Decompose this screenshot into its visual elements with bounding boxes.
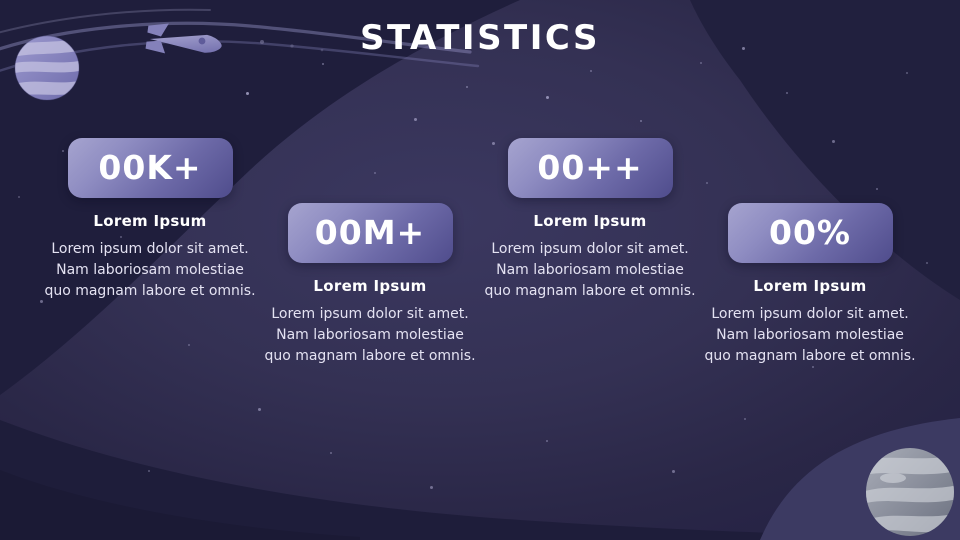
stat-heading-4: Lorem Ipsum xyxy=(696,277,924,295)
statistics-slide: STATISTICS 00K+ Lorem Ipsum Lorem ipsum … xyxy=(0,0,960,540)
stat-heading-2: Lorem Ipsum xyxy=(256,277,484,295)
stat-body-4: Lorem ipsum dolor sit amet. Nam laborios… xyxy=(696,304,924,367)
stat-value-badge-4[interactable]: 00% xyxy=(728,203,893,263)
stats-row: 00K+ Lorem Ipsum Lorem ipsum dolor sit a… xyxy=(0,0,960,540)
stat-card-1: 00K+ Lorem Ipsum Lorem ipsum dolor sit a… xyxy=(36,138,264,302)
stat-card-4: 00% Lorem Ipsum Lorem ipsum dolor sit am… xyxy=(696,203,924,367)
stat-heading-1: Lorem Ipsum xyxy=(36,212,264,230)
page-title: STATISTICS xyxy=(0,18,960,58)
stat-card-3: 00++ Lorem Ipsum Lorem ipsum dolor sit a… xyxy=(476,138,704,302)
stat-body-1: Lorem ipsum dolor sit amet. Nam laborios… xyxy=(36,239,264,302)
stat-value-badge-3[interactable]: 00++ xyxy=(508,138,673,198)
stat-value-badge-2[interactable]: 00M+ xyxy=(288,203,453,263)
stat-body-3: Lorem ipsum dolor sit amet. Nam laborios… xyxy=(476,239,704,302)
stat-card-2: 00M+ Lorem Ipsum Lorem ipsum dolor sit a… xyxy=(256,203,484,367)
stat-body-2: Lorem ipsum dolor sit amet. Nam laborios… xyxy=(256,304,484,367)
stat-heading-3: Lorem Ipsum xyxy=(476,212,704,230)
stat-value-badge-1[interactable]: 00K+ xyxy=(68,138,233,198)
